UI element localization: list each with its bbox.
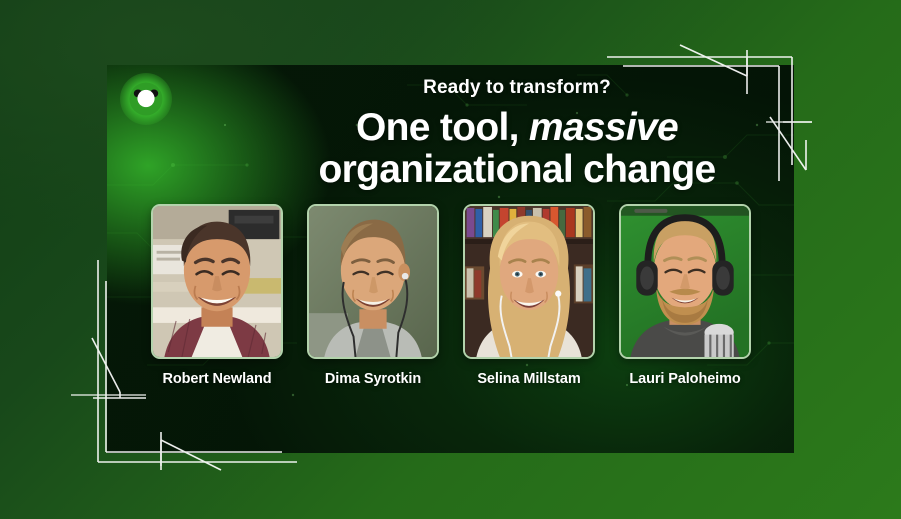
portrait-illustration <box>465 206 593 357</box>
content-card: Ready to transform? One tool, massive or… <box>107 65 794 453</box>
speaker-photo-robert-newland[interactable] <box>151 204 283 359</box>
speaker-card[interactable]: Robert Newland <box>151 204 283 387</box>
portrait-illustration <box>309 206 437 357</box>
title-line2: organizational change <box>318 148 715 191</box>
speaker-name: Robert Newland <box>151 371 283 387</box>
title-line1-emphasis: massive <box>529 106 678 149</box>
speaker-name: Lauri Paloheimo <box>619 371 751 387</box>
portrait-illustration <box>621 206 749 357</box>
speaker-grid: Robert Newland <box>151 204 751 387</box>
panda-logo <box>120 73 172 125</box>
speaker-photo-lauri-paloheimo[interactable] <box>619 204 751 359</box>
speaker-name: Dima Syrotkin <box>307 371 439 387</box>
speaker-name: Selina Millstam <box>463 371 595 387</box>
headline-block: Ready to transform? One tool, massive or… <box>257 78 777 190</box>
speaker-card[interactable]: Dima Syrotkin <box>307 204 439 387</box>
panda-face-icon <box>120 73 172 125</box>
speaker-card[interactable]: Lauri Paloheimo <box>619 204 751 387</box>
speaker-photo-selina-millstam[interactable] <box>463 204 595 359</box>
title-line1-plain: One tool, <box>356 106 519 149</box>
promo-graphic: Ready to transform? One tool, massive or… <box>0 0 901 519</box>
speaker-card[interactable]: Selina Millstam <box>463 204 595 387</box>
portrait-illustration <box>153 206 281 357</box>
page-title: One tool, massive organizational change <box>257 107 777 190</box>
speaker-photo-dima-syrotkin[interactable] <box>307 204 439 359</box>
kicker-text: Ready to transform? <box>257 78 777 97</box>
